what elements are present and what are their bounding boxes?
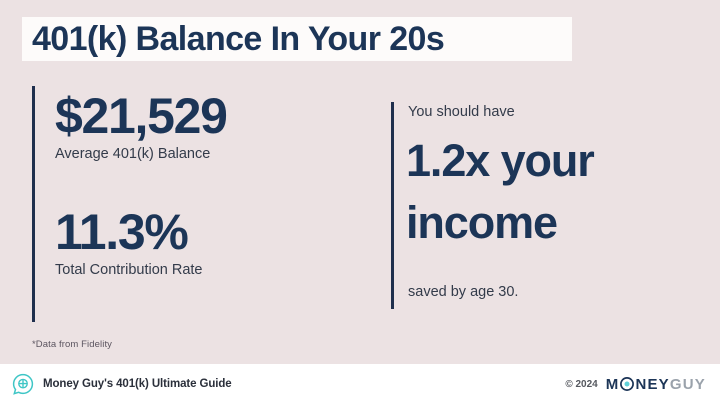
logo-text-ney: NEY — [635, 376, 669, 393]
logo-text-m: M — [606, 376, 620, 393]
page-title: 401(k) Balance In Your 20s — [32, 18, 632, 60]
logo-target-o-icon — [620, 377, 634, 391]
stat-caption: Total Contribution Rate — [55, 260, 203, 280]
moneyguy-logo[interactable]: M NEY GUY — [606, 376, 706, 393]
right-benchmark-column: You should have 1.2x your income saved b… — [391, 102, 711, 309]
left-column-rule — [32, 86, 35, 322]
benchmark-sub-text: saved by age 30. — [408, 282, 518, 302]
stat-contribution-rate: 11.3% Total Contribution Rate — [55, 204, 203, 280]
benchmark-lead-text: You should have — [408, 102, 515, 122]
benchmark-headline: 1.2x your income — [406, 130, 706, 254]
copyright-text: © 2024 — [565, 379, 597, 390]
left-stats-column: $21,529 Average 401(k) Balance 11.3% Tot… — [32, 86, 362, 322]
stat-value: 11.3% — [55, 204, 203, 260]
data-source-footnote: *Data from Fidelity — [32, 339, 112, 350]
footer-brand-group[interactable]: Money Guy's 401(k) Ultimate Guide — [12, 373, 232, 395]
right-column-rule — [391, 102, 394, 309]
stat-average-balance: $21,529 Average 401(k) Balance — [55, 88, 227, 164]
stat-value: $21,529 — [55, 88, 227, 144]
footer-bar: Money Guy's 401(k) Ultimate Guide © 2024… — [0, 364, 720, 404]
stat-caption: Average 401(k) Balance — [55, 144, 227, 164]
money-guy-plus-icon — [12, 373, 34, 395]
infographic-canvas: 401(k) Balance In Your 20s $21,529 Avera… — [0, 0, 720, 404]
footer-logo-group: © 2024 M NEY GUY — [565, 376, 706, 393]
logo-text-guy: GUY — [670, 376, 706, 393]
footer-guide-label: Money Guy's 401(k) Ultimate Guide — [43, 378, 232, 390]
